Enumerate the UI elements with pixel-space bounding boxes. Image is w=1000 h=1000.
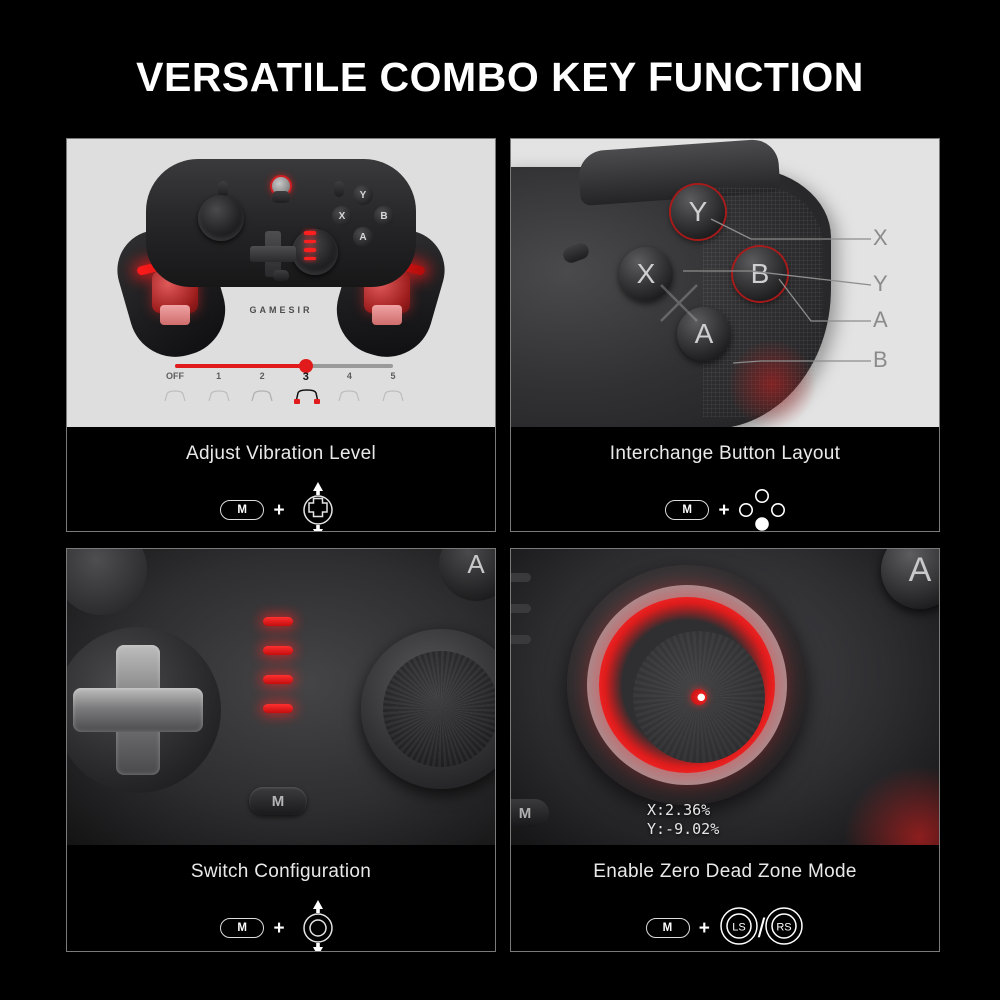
svg-text:LS: LS: [732, 921, 745, 933]
m-key-badge: M: [220, 918, 264, 938]
analog-stick-left: [198, 195, 244, 241]
led-indicator-strip: [304, 231, 316, 265]
panel-caption-area: Interchange Button Layout M +: [511, 427, 939, 532]
dpad-icon: [294, 481, 342, 532]
slider-fill: [175, 364, 306, 368]
feature-panel-zero-dead-zone: A M X:2.36% Y:-9.02%: [510, 548, 940, 952]
plus-sign: +: [273, 501, 284, 520]
panel-caption: Adjust Vibration Level: [186, 443, 376, 465]
face-button-x: X: [332, 206, 352, 226]
infographic-page: VERSATILE COMBO KEY FUNCTION: [0, 0, 1000, 1000]
plus-sign: +: [699, 919, 710, 938]
remap-label-x: X: [873, 225, 888, 251]
combo-key-row: M +: [220, 481, 341, 532]
face-button-cluster: Y X B A: [332, 185, 394, 247]
deadzone-glow-ring: [599, 597, 775, 773]
m-button-partial[interactable]: M: [511, 799, 549, 827]
right-stick-icon: RS: [764, 906, 804, 951]
dpad-icon: [250, 231, 296, 277]
stick-bezel: [587, 585, 787, 785]
led-bar: [304, 257, 316, 261]
left-stick-icon: LS: [719, 906, 759, 951]
slider-label-4: 4: [347, 371, 352, 381]
feature-panel-grid: Y X B A GAMESIR: [66, 138, 940, 952]
vibration-icon: [380, 387, 406, 403]
plus-sign: +: [273, 919, 284, 938]
motor-pin-left: [160, 305, 190, 325]
stick-buttons-icon-group: LS / RS: [719, 906, 805, 951]
led-bar: [304, 240, 316, 244]
page-title: VERSATILE COMBO KEY FUNCTION: [0, 54, 1000, 101]
coordinate-x: X:2.36%: [647, 801, 719, 820]
combo-key-row: M +: [220, 899, 341, 952]
combo-key-row: M + LS /: [646, 899, 805, 952]
slider-label-3: 3: [303, 371, 309, 383]
stick-position-dot: [691, 689, 707, 705]
remap-label-a: A: [873, 307, 888, 333]
m-key-badge: M: [220, 500, 264, 520]
led-indicator-strip-dim: [511, 573, 531, 666]
dpad-cross: [73, 645, 203, 775]
led-bar: [263, 704, 293, 713]
slider-track[interactable]: [175, 364, 393, 368]
led-bar: [511, 573, 531, 582]
panel-caption-area: Enable Zero Dead Zone Mode M + LS /: [511, 845, 939, 952]
brand-logo-text: GAMESIR: [249, 305, 312, 315]
feature-panel-switch-configuration: A M Switch Configuration M: [66, 548, 496, 952]
panel-caption: Enable Zero Dead Zone Mode: [593, 861, 856, 883]
panel-photo-controller-full: Y X B A GAMESIR: [67, 139, 495, 427]
remap-label-b: B: [873, 347, 888, 373]
abxy-diamond-icon: [739, 488, 785, 532]
slider-label-2: 2: [260, 371, 265, 381]
dpad-icon: [67, 627, 221, 793]
panel-caption-area: Adjust Vibration Level M +: [67, 427, 495, 532]
motor-pin-right: [372, 305, 402, 325]
panel-photo-dpad-closeup: A M: [67, 549, 495, 845]
panel-caption: Interchange Button Layout: [610, 443, 840, 465]
feature-panel-adjust-vibration-level: Y X B A GAMESIR: [66, 138, 496, 532]
slider-tick-labels: OFF 1 2 3 4 5: [175, 371, 393, 385]
analog-stick-icon: [294, 899, 342, 952]
stick-coordinates-readout: X:2.36% Y:-9.02%: [647, 801, 719, 839]
analog-stick-surface: [383, 651, 495, 767]
led-bar: [304, 248, 316, 252]
analog-stick-left[interactable]: [567, 565, 807, 805]
panel-caption: Switch Configuration: [191, 861, 371, 883]
stick-surface: [633, 631, 765, 763]
slider-label-5: 5: [390, 371, 395, 381]
led-indicator-strip: [263, 617, 293, 733]
capture-button: [272, 191, 290, 203]
vibration-icon: [249, 387, 275, 403]
led-bar: [304, 231, 316, 235]
panel-photo-stick-deadzone: A M X:2.36% Y:-9.02%: [511, 549, 939, 845]
plus-sign: +: [718, 501, 729, 520]
slider-label-off: OFF: [166, 371, 184, 381]
led-bar: [511, 635, 531, 644]
svg-text:RS: RS: [777, 921, 792, 933]
vibration-icon: [206, 387, 232, 403]
panel-caption-area: Switch Configuration M +: [67, 845, 495, 952]
controller-shell: Y X B A: [146, 159, 416, 287]
led-bar: [263, 675, 293, 684]
vibration-strength-icons: [175, 387, 393, 413]
m-button[interactable]: M: [249, 787, 307, 815]
remap-label-y: Y: [873, 271, 888, 297]
panel-photo-button-closeup: Y X B A X: [511, 139, 939, 427]
led-bar: [263, 646, 293, 655]
face-button-b: B: [374, 206, 394, 226]
feature-panel-interchange-button-layout: Y X B A X: [510, 138, 940, 532]
controller-illustration: Y X B A GAMESIR: [67, 139, 495, 427]
m-button-art: [273, 270, 289, 281]
coordinate-y: Y:-9.02%: [647, 820, 719, 839]
vibration-level-slider[interactable]: OFF 1 2 3 4 5: [175, 364, 393, 413]
red-edge-glow: [843, 765, 939, 845]
m-key-badge: M: [665, 500, 709, 520]
m-key-badge: M: [646, 918, 690, 938]
controller-body: Y X B A GAMESIR: [118, 153, 444, 365]
vibration-icon: [162, 387, 188, 403]
combo-key-row: M +: [665, 481, 784, 532]
led-bar: [263, 617, 293, 626]
vibration-icon: [336, 387, 362, 403]
vibration-icon-active: [293, 387, 319, 403]
led-bar: [511, 604, 531, 613]
face-button-a: A: [353, 227, 373, 247]
face-button-y: Y: [353, 185, 373, 205]
slider-label-1: 1: [216, 371, 221, 381]
